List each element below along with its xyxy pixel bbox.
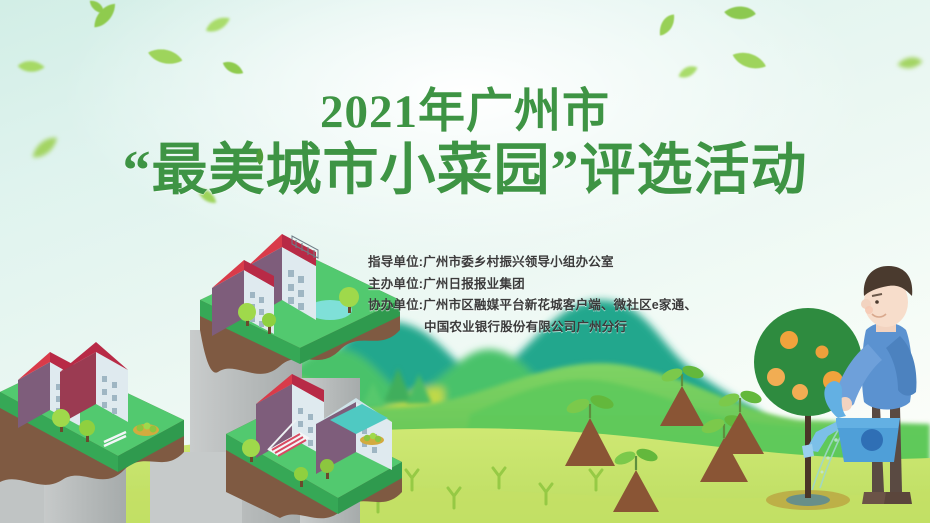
organizer-list: 指导单位:广州市委乡村振兴领导小组办公室 主办单位:广州日报报业集团 协办单位:… <box>368 252 718 338</box>
organizer-line-coorganizer-cont: 中国农业银行股份有限公司广州分行 <box>368 317 718 339</box>
organizer-line-host: 主办单位:广州日报报业集团 <box>368 274 718 296</box>
poster-canvas: 2021年广州市 “最美城市小菜园”评选活动 指导单位:广州市委乡村振兴领导小组… <box>0 0 930 523</box>
organizer-line-guidance: 指导单位:广州市委乡村振兴领导小组办公室 <box>368 252 718 274</box>
organizer-line-coorganizer: 协办单位:广州市区融媒平台新花城客户端、微社区e家通、 <box>368 295 718 317</box>
